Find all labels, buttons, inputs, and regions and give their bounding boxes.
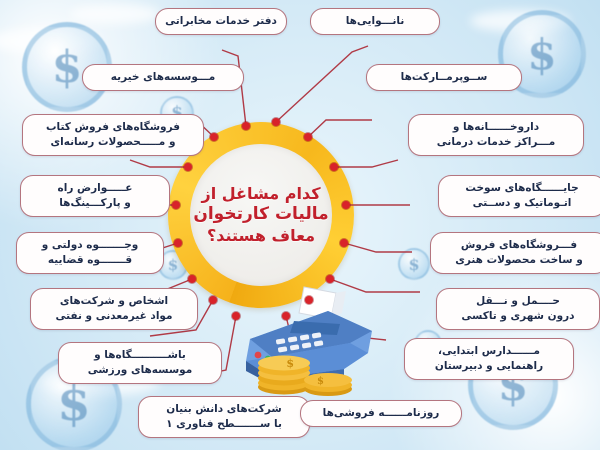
- label-pharmacies[interactable]: داروخــــــانه‌ها و مـــراکز خدمات درمان…: [408, 114, 584, 156]
- red-indicator-icon: [255, 352, 262, 359]
- label-book-media-shops[interactable]: فروشگاه‌های فروش کتاب و مـــــحصولات رسا…: [22, 114, 204, 156]
- node-dot: [172, 201, 180, 209]
- label-line: وجـــــــوه دولتی و: [26, 238, 154, 253]
- cloud-decor: [70, 4, 160, 24]
- node-dot: [272, 118, 280, 126]
- label-knowledge-based[interactable]: شرکت‌های دانش بنیان با ســـــــطح فناوری…: [138, 396, 310, 438]
- label-line: حــــمل و نـــقل: [446, 294, 590, 309]
- label-line: راهنمایی و دبیرستان: [414, 359, 564, 374]
- label-line: جایــــــگاه‌های سوخت: [448, 181, 596, 196]
- label-art-products[interactable]: فـــروشگاه‌های فروش و ساخت محصولات هنری: [430, 232, 600, 274]
- label-line: موسسه‌های ورزشی: [68, 363, 212, 378]
- label-line: درون شهری و تاکسی: [446, 309, 590, 324]
- center-title-circle: کدام مشاغل از مالیات کارتخوان معاف هستند…: [190, 144, 332, 286]
- label-line: فروشگاه‌های فروش کتاب: [32, 120, 194, 135]
- label-line: و پارکـــینگ‌ها: [30, 196, 160, 211]
- label-line: و مـــــحصولات رسانه‌ای: [32, 135, 194, 150]
- label-govt-judiciary[interactable]: وجـــــــوه دولتی و قـــــــوه قضاییه: [16, 232, 164, 274]
- label-line: مـــوسسه‌های خیریه: [92, 70, 234, 85]
- label-line: و ساخت محصولات هنری: [440, 253, 598, 268]
- label-road-parking[interactable]: عـــــوارض راه و پارکـــینگ‌ها: [20, 175, 170, 217]
- label-line: فـــروشگاه‌های فروش: [440, 238, 598, 253]
- node-dot: [209, 296, 217, 304]
- node-dot: [304, 133, 312, 141]
- node-dot: [242, 122, 250, 130]
- cloud-decor: [0, 28, 100, 54]
- svg-text:$: $: [286, 357, 294, 370]
- label-newsstands[interactable]: روزنامــــــه فروشی‌ها: [300, 400, 462, 427]
- node-dot: [232, 312, 240, 320]
- label-line: داروخــــــانه‌ها و: [418, 120, 574, 135]
- label-line: روزنامــــــه فروشی‌ها: [310, 406, 452, 421]
- label-line: نانـــوایی‌ها: [320, 14, 430, 29]
- label-line: اشخاص و شرکت‌های: [40, 294, 188, 309]
- node-dot: [330, 163, 338, 171]
- label-line: عـــــوارض راه: [30, 181, 160, 196]
- label-urban-transport[interactable]: حــــمل و نـــقل درون شهری و تاکسی: [436, 288, 600, 330]
- node-dot: [188, 275, 196, 283]
- label-line: شرکت‌های دانش بنیان: [148, 402, 300, 417]
- label-non-mineral-oil[interactable]: اشخاص و شرکت‌های مواد غیرمعدنی و نفتی: [30, 288, 198, 330]
- label-charities[interactable]: مـــوسسه‌های خیریه: [82, 64, 244, 91]
- label-line: مــــــدارس ابتدایی،: [414, 344, 564, 359]
- label-line: دفتر خدمات مخابراتی: [165, 14, 277, 29]
- label-telecom-office[interactable]: دفتر خدمات مخابراتی: [155, 8, 287, 35]
- label-line: با ســـــــطح فناوری ۱: [148, 417, 300, 432]
- cloud-decor: [470, 10, 570, 32]
- node-dot: [305, 296, 313, 304]
- label-bakeries[interactable]: نانـــوایی‌ها: [310, 8, 440, 35]
- node-dot: [174, 239, 182, 247]
- node-dot: [184, 163, 192, 171]
- label-line: قـــــــوه قضاییه: [26, 253, 154, 268]
- label-fuel-stations[interactable]: جایــــــگاه‌های سوخت اتـوماتیک و دســتی: [438, 175, 600, 217]
- label-line: باشــــــــــگاه‌ها و: [68, 348, 212, 363]
- label-line: مـــراکز خدمات درمانی: [418, 135, 574, 150]
- label-line: اتـوماتیک و دســتی: [448, 196, 596, 211]
- node-dot: [326, 275, 334, 283]
- title-line-2: مالیات کارتخوان: [193, 204, 328, 226]
- node-dot: [210, 133, 218, 141]
- svg-text:$: $: [317, 376, 324, 387]
- node-dot: [342, 201, 350, 209]
- label-supermarkets[interactable]: ســوپرمــارکت‌ها: [366, 64, 522, 91]
- infographic-canvas: $ $ $ $ $ $ $ $: [0, 0, 600, 450]
- label-line: ســوپرمــارکت‌ها: [376, 70, 512, 85]
- label-schools[interactable]: مــــــدارس ابتدایی، راهنمایی و دبیرستان: [404, 338, 574, 380]
- label-sports-clubs[interactable]: باشــــــــــگاه‌ها و موسسه‌های ورزشی: [58, 342, 222, 384]
- dollar-coin-decor: $: [398, 248, 430, 280]
- node-dot: [340, 239, 348, 247]
- label-line: مواد غیرمعدنی و نفتی: [40, 309, 188, 324]
- node-dot: [282, 312, 290, 320]
- title-line-1: کدام مشاغل از: [202, 184, 321, 204]
- title-line-3: معاف هستند؟: [207, 226, 315, 246]
